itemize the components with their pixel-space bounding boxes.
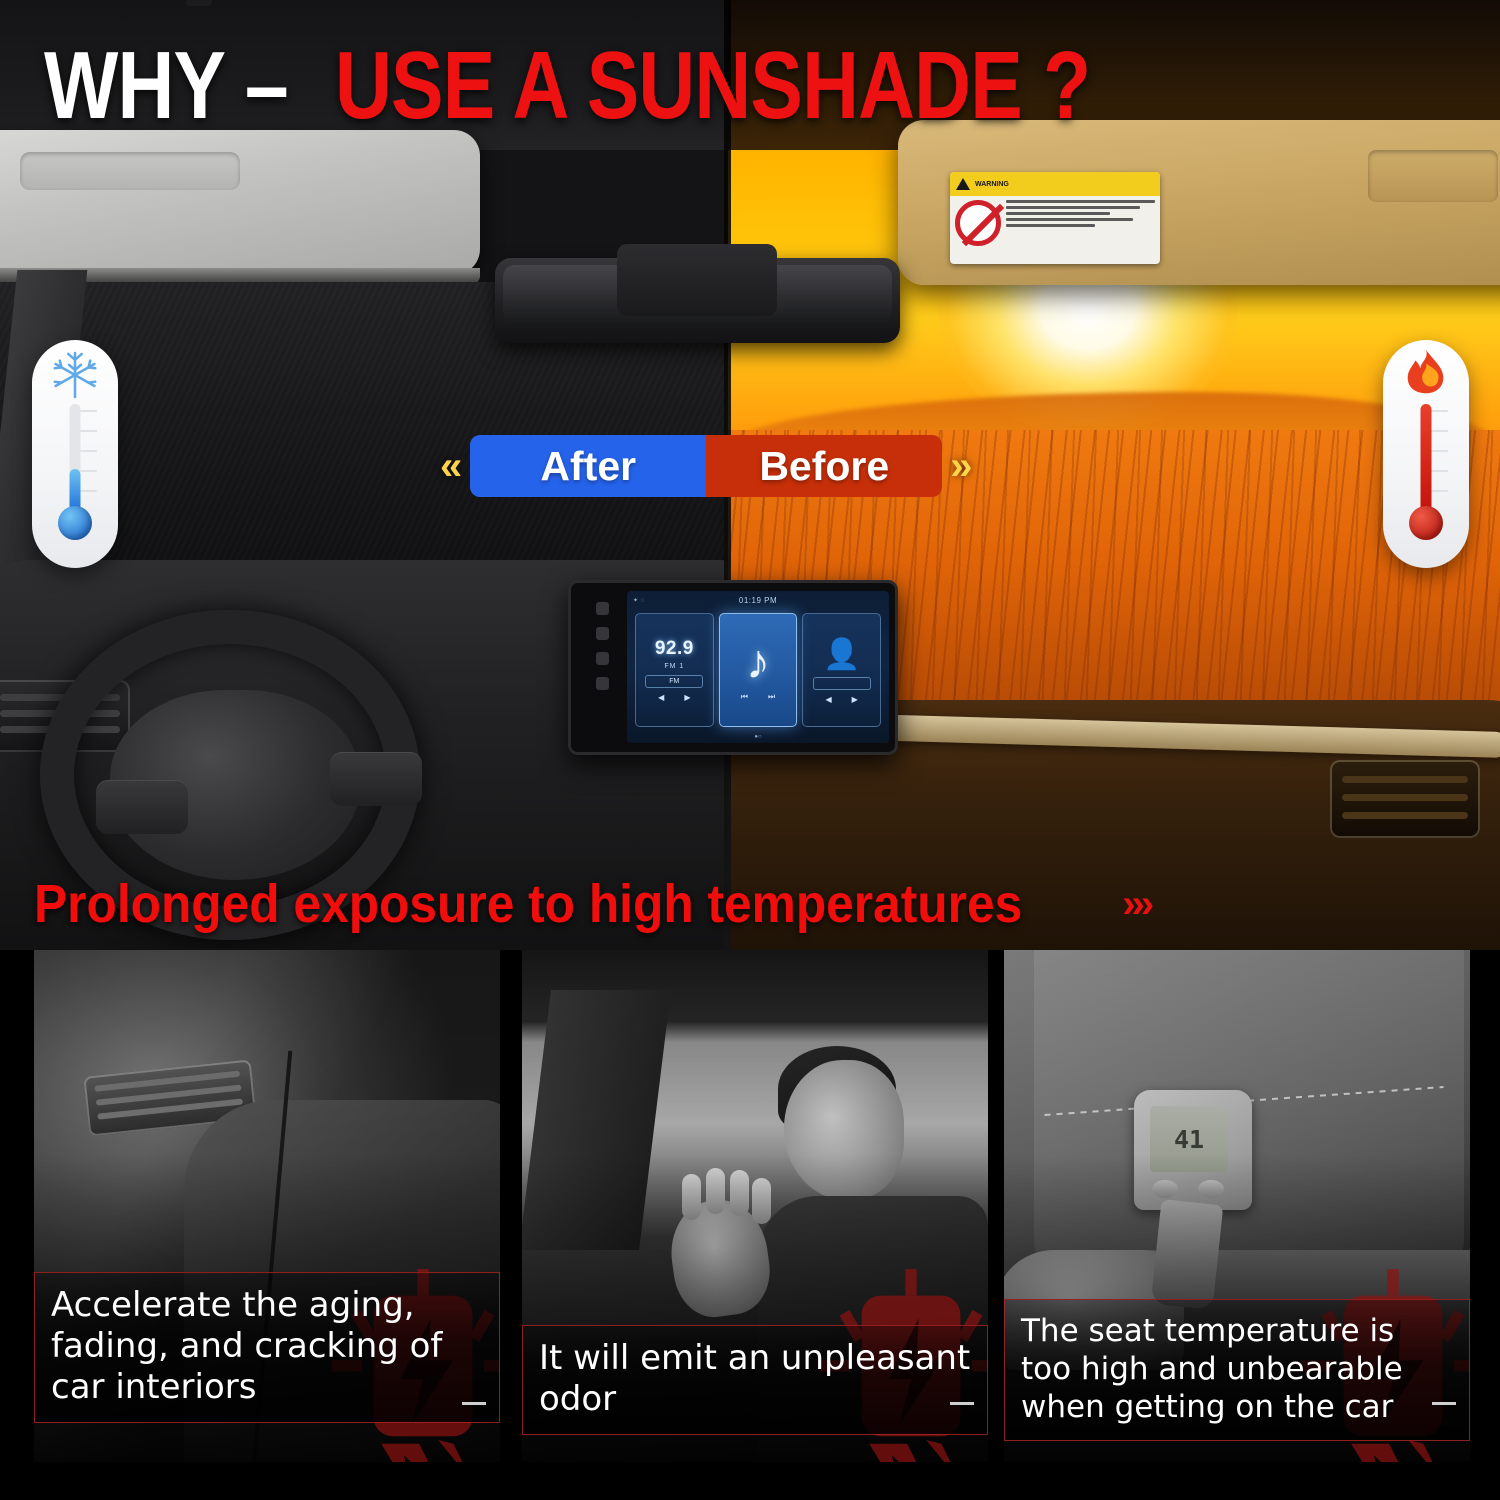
radio-next-icon[interactable]: ▶ [684,693,690,702]
panel-unpleasant-odor: It will emit an unpleasant odor [522,950,988,1462]
media-next-track-icon[interactable]: ⏭ [768,692,775,702]
subhead-text: Prolonged exposure to high temperatures [34,874,1022,934]
radio-prev-icon[interactable]: ◀ [658,693,664,702]
visor-warning-label: WARNING [950,172,1160,264]
section-subhead: Prolonged exposure to high temperatures … [34,868,1434,940]
radio-source-button[interactable]: FM [645,675,703,688]
phone-nav-controls[interactable]: ◀ ▶ [826,695,858,704]
steering-button-pad-right [330,752,422,806]
flame-icon [1383,348,1469,407]
radio-tile[interactable]: 92.9 FM 1 FM ◀ ▶ [635,613,714,727]
phone-prev-icon[interactable]: ◀ [826,695,832,704]
warning-label-body [950,196,1160,250]
panel-3-caption: The seat temperature is too high and unb… [1004,1299,1470,1441]
media-prev-track-icon[interactable]: ⏮ [741,692,748,702]
radio-band: FM 1 [664,663,684,670]
consequences-panels: Accelerate the aging, fading, and cracki… [0,950,1500,1500]
chevron-right-icon: » [950,446,972,486]
media-transport-controls[interactable]: ⏮ ⏭ [741,692,775,702]
panel-hot-seat-temperature: 41 [1004,950,1470,1462]
music-note-icon: ♪ [746,639,770,687]
after-badge[interactable]: After [470,435,706,497]
sun-visor-shaded [0,130,480,275]
phone-next-icon[interactable]: ▶ [852,695,858,704]
cold-thermometer-badge [32,340,118,568]
infotainment-clock: 01:19 PM [739,596,777,605]
panel-2-caption: It will emit an unpleasant odor [522,1325,988,1435]
panel-3-caption-dash [1432,1402,1456,1405]
page-title: WHY – USE A SUNSHADE ? [0,36,1500,136]
air-vent-right [1330,760,1480,838]
chevron-left-icon: « [440,446,462,486]
thermometer-tube-cold [70,404,81,516]
panel-2-caption-dash [950,1402,974,1405]
radio-nav-controls[interactable]: ◀ ▶ [658,693,690,702]
thermometer-fill-hot [1421,404,1432,516]
thermometer-tube-hot [1421,404,1432,516]
before-after-badges: « After Before » [440,430,1000,502]
radio-frequency: 92.9 [655,638,694,660]
before-after-comparison: WARNING [0,0,1500,950]
infotainment-head-unit: ✦ ◌ 01:19 PM 92.9 FM 1 FM ◀ ▶ ♪ [568,580,898,755]
panel-interior-aging: Accelerate the aging, fading, and cracki… [34,950,500,1462]
volume-button-icon[interactable] [596,652,609,665]
menu-button-icon[interactable] [596,677,609,690]
panel-1-caption: Accelerate the aging, fading, and cracki… [34,1272,500,1423]
contact-name-field[interactable] [813,677,871,690]
infotainment-tiles: 92.9 FM 1 FM ◀ ▶ ♪ ⏮ ⏭ [635,613,881,727]
steering-button-pad-left [96,780,188,834]
warning-label-header: WARNING [950,172,1160,196]
before-badge[interactable]: Before [706,435,942,497]
warning-triangle-icon [956,178,970,190]
title-red-part: USE A SUNSHADE ? [335,38,1090,134]
page-indicator-dots: ●○ [627,734,889,740]
power-button-icon[interactable] [596,602,609,615]
warning-label-text-lines [1006,200,1155,246]
infotainment-side-buttons[interactable] [579,590,625,745]
infotainment-display[interactable]: ✦ ◌ 01:19 PM 92.9 FM 1 FM ◀ ▶ ♪ [627,591,889,743]
warning-label-heading: WARNING [975,181,1009,188]
hot-thermometer-badge [1383,340,1469,568]
rearview-mirror-housing [617,244,777,316]
infotainment-status-bar: ✦ ◌ 01:19 PM [627,591,889,609]
thermometer-bulb-hot [1409,506,1443,540]
home-button-icon[interactable] [596,627,609,640]
bluetooth-icon: ✦ ◌ [633,597,645,604]
rearview-mirror [495,258,900,343]
infographic-root: WARNING [0,0,1500,1500]
thermometer-bulb-cold [58,506,92,540]
person-icon: 👤 [823,637,860,672]
no-rear-facing-child-seat-icon [955,200,1001,246]
title-white-part: WHY – [44,38,288,134]
panel-1-caption-dash [462,1402,486,1405]
rearview-mirror-stem [186,0,212,6]
snowflake-icon [32,348,118,409]
chevron-triple-right-icon: ››› [1122,882,1150,927]
phone-tile[interactable]: 👤 ◀ ▶ [802,613,881,727]
media-tile[interactable]: ♪ ⏮ ⏭ [719,613,798,727]
